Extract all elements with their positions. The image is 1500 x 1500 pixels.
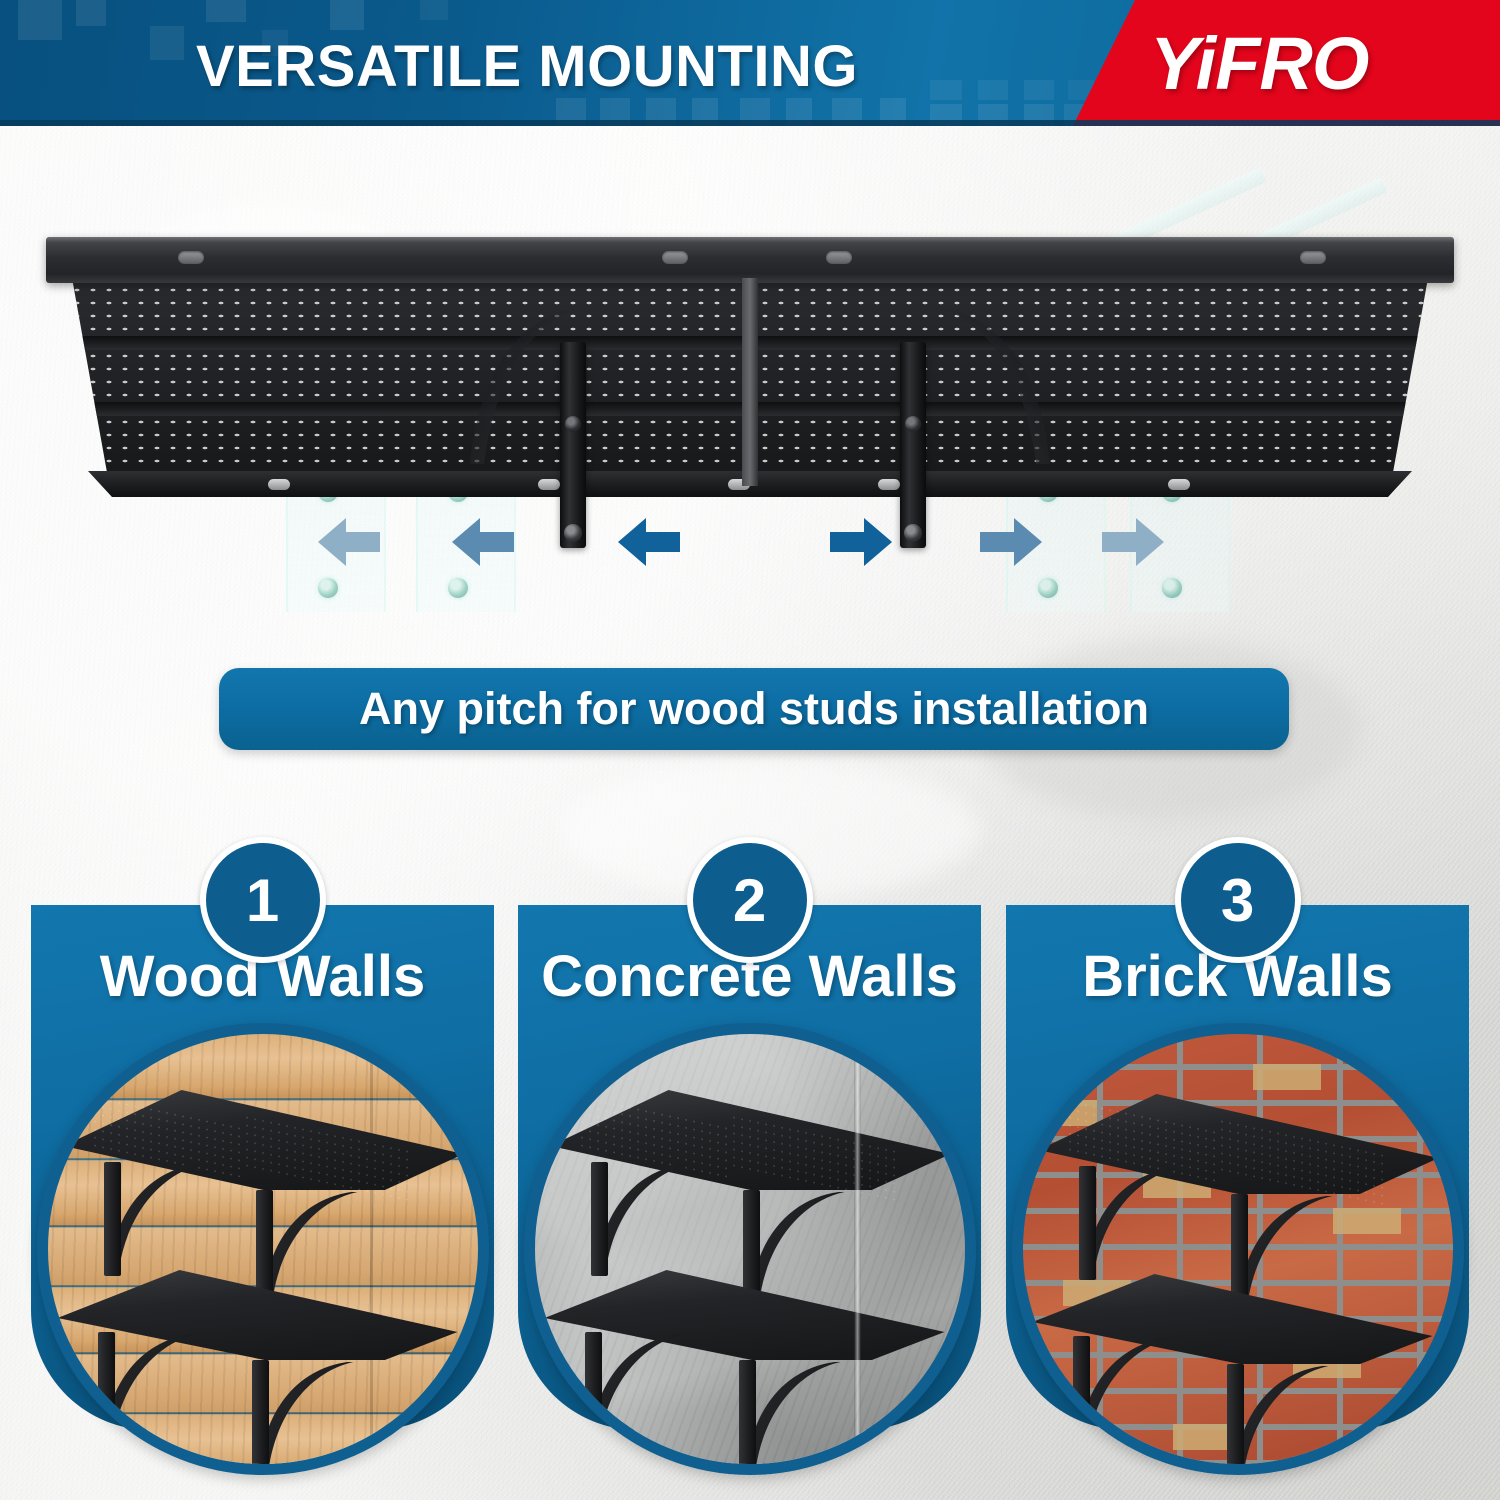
mini-bracket-gusset [591, 1334, 687, 1438]
card-wood-walls[interactable]: 1 Wood Walls [31, 905, 494, 1430]
card-photo-brick [1012, 1023, 1464, 1475]
mini-bracket-leg [591, 1162, 608, 1276]
mini-bracket-leg [1079, 1166, 1096, 1280]
card-brick-walls[interactable]: 3 Brick Walls [1006, 905, 1469, 1430]
wall-type-cards: 1 Wood Walls [0, 0, 1500, 1500]
mini-shelf-top [58, 1270, 458, 1360]
mini-bracket-leg [585, 1332, 602, 1440]
card-number-badge: 1 [200, 837, 326, 963]
card-photo-wood [37, 1023, 489, 1475]
mini-shelf-lower [545, 1270, 945, 1430]
mini-bracket-gusset [1085, 1168, 1181, 1272]
mini-shelf-top [1033, 1274, 1433, 1364]
card-number-badge: 3 [1175, 837, 1301, 963]
mini-shelf-upper [64, 1090, 464, 1260]
mini-bracket-gusset [1079, 1338, 1175, 1442]
mini-shelf-lower [1033, 1274, 1433, 1434]
mini-bracket-gusset [260, 1362, 356, 1466]
wood-wall-texture [48, 1034, 478, 1464]
card-concrete-walls[interactable]: 2 Concrete Walls [518, 905, 981, 1430]
mini-bracket-gusset [747, 1362, 843, 1466]
mini-bracket-gusset [1235, 1366, 1331, 1470]
mini-bracket-gusset [597, 1164, 693, 1268]
mini-bracket-leg [1227, 1364, 1244, 1472]
mini-bracket-leg [104, 1162, 121, 1276]
mini-bracket-leg [252, 1360, 269, 1468]
concrete-wall-texture [535, 1034, 965, 1464]
mini-bracket-leg [98, 1332, 115, 1440]
brick-wall-texture [1023, 1034, 1453, 1464]
mini-bracket-gusset [104, 1334, 200, 1438]
mini-shelf-upper [551, 1090, 951, 1260]
mini-shelf-lower [58, 1270, 458, 1430]
mini-bracket-leg [739, 1360, 756, 1468]
marketing-infographic: VERSATILE MOUNTING YiFRO [0, 0, 1500, 1500]
mini-bracket-gusset [110, 1164, 206, 1268]
mini-bracket-leg [1073, 1336, 1090, 1444]
mini-shelf-top [545, 1270, 945, 1360]
card-photo-concrete [524, 1023, 976, 1475]
mini-shelf-upper [1039, 1094, 1439, 1264]
card-number-badge: 2 [687, 837, 813, 963]
